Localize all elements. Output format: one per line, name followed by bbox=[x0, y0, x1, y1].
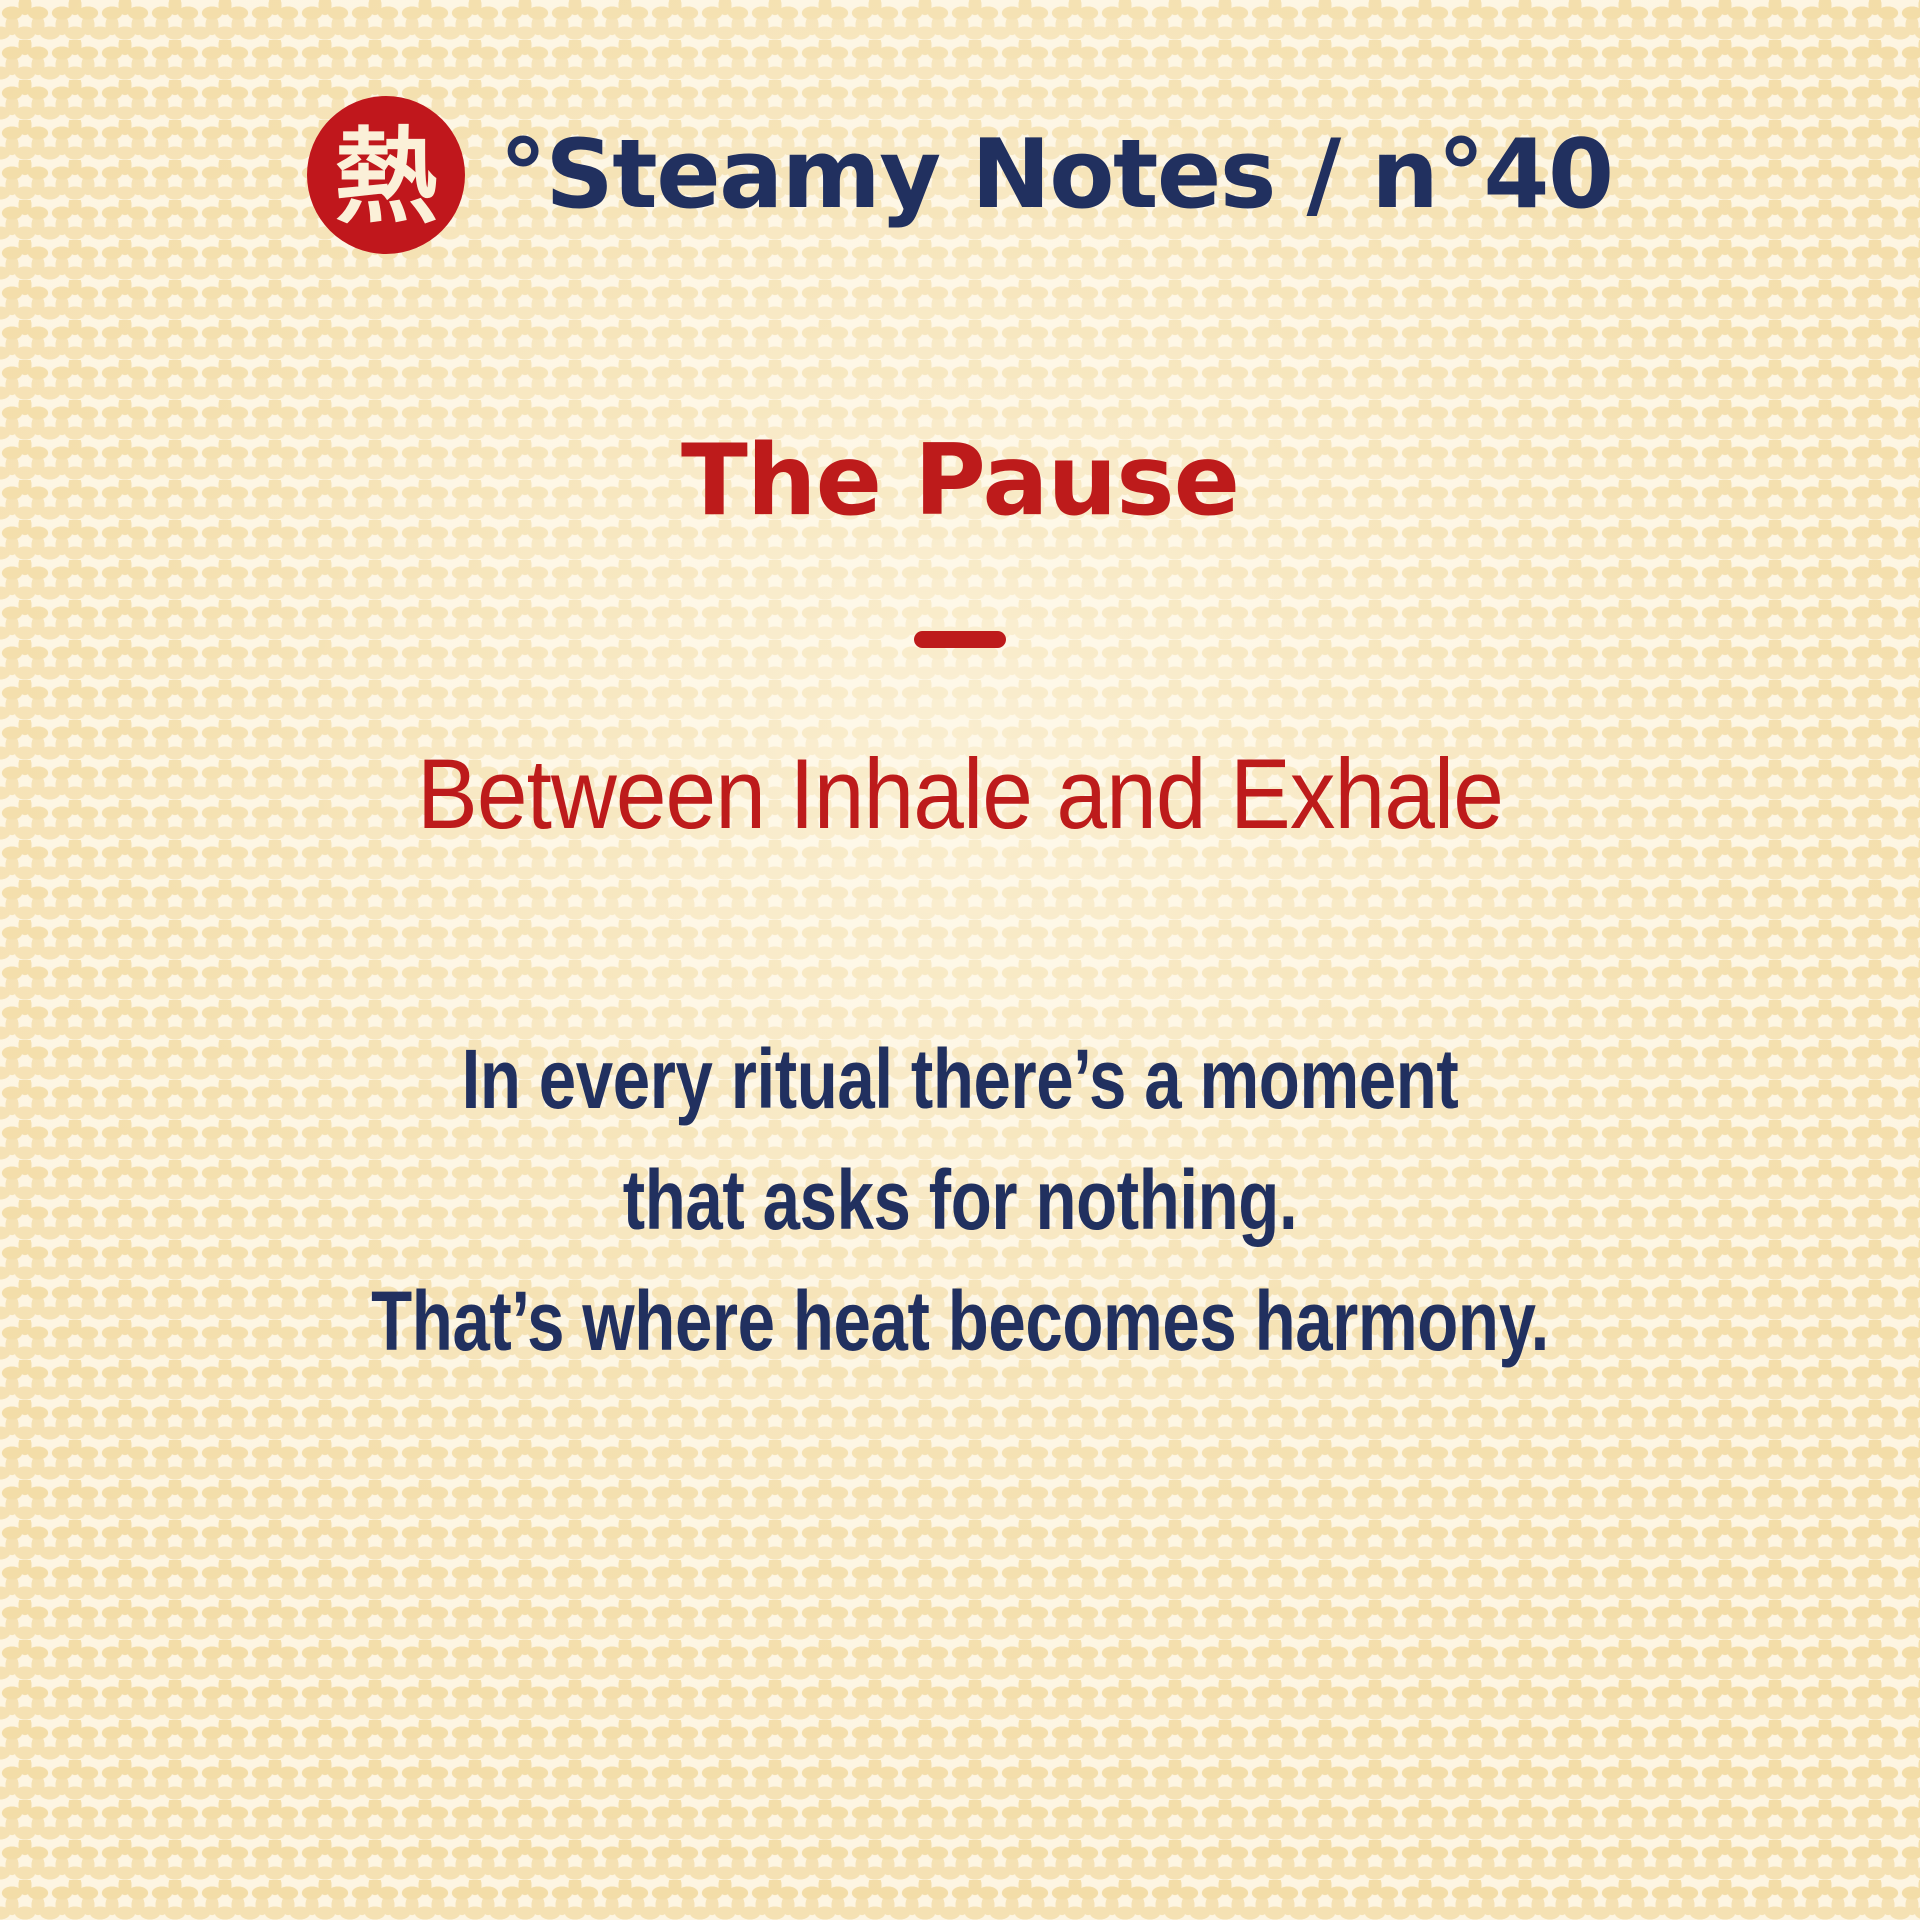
main-content: The Pause Between Inhale and Exhale In e… bbox=[0, 430, 1920, 1382]
headline: The Pause bbox=[70, 430, 1850, 533]
red-dash-divider bbox=[914, 631, 1006, 648]
divider-wrap bbox=[70, 631, 1850, 648]
heat-kanji-seal-icon: 熱 bbox=[307, 96, 465, 254]
body-copy: In every ritual there’s a moment that as… bbox=[248, 1019, 1672, 1382]
header: 熱 °Steamy Notes / n°40 bbox=[0, 96, 1920, 254]
subheadline: Between Inhale and Exhale bbox=[141, 740, 1779, 849]
kanji-glyph: 熱 bbox=[334, 125, 438, 229]
body-line: In every ritual there’s a moment bbox=[248, 1019, 1672, 1140]
page-title: °Steamy Notes / n°40 bbox=[499, 127, 1612, 224]
poster-canvas: 熱 °Steamy Notes / n°40 The Pause Between… bbox=[0, 0, 1920, 1920]
body-line: That’s where heat becomes harmony. bbox=[248, 1261, 1672, 1382]
body-line: that asks for nothing. bbox=[248, 1140, 1672, 1261]
